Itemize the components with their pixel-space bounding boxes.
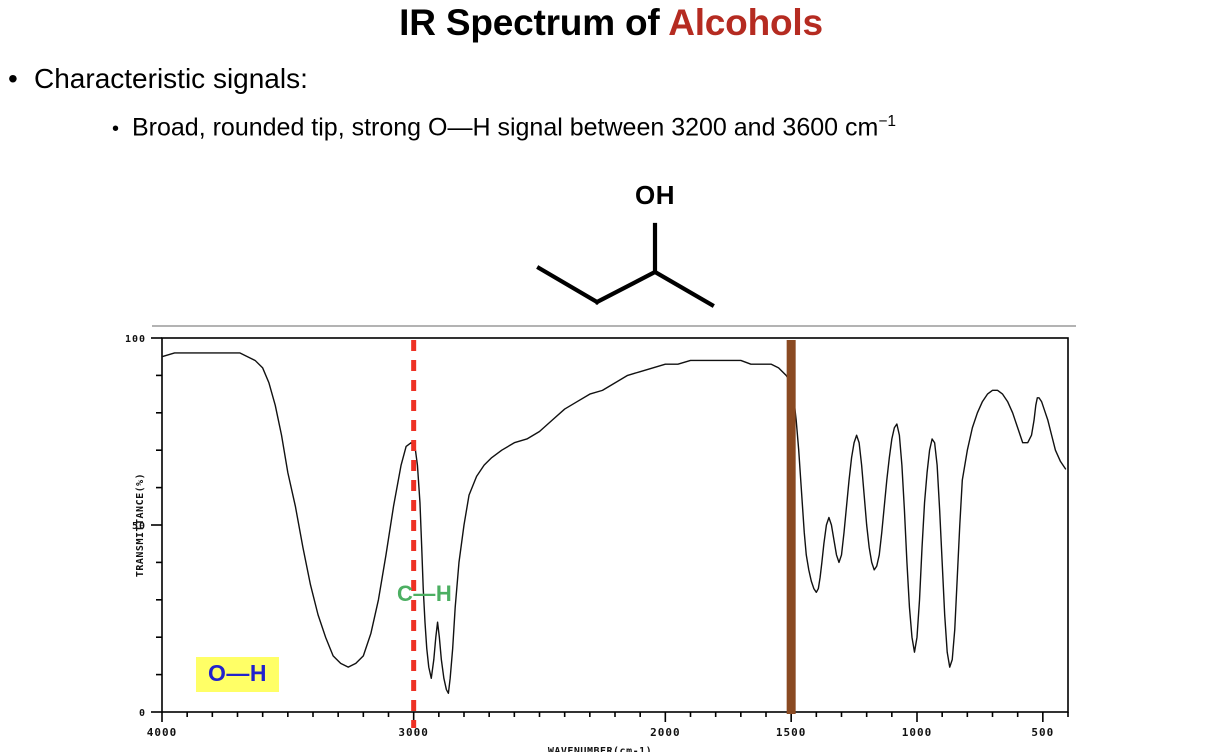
annotation-oh-band: O—H (196, 657, 279, 692)
svg-text:0: 0 (139, 708, 146, 719)
bullet-level-2-text: Broad, rounded tip, strong O—H signal be… (132, 113, 878, 141)
svg-text:1500: 1500 (776, 726, 807, 739)
page-title: IR Spectrum of Alcohols (0, 2, 1222, 44)
svg-text:TRANSMITTANCE(%): TRANSMITTANCE(%) (135, 473, 146, 577)
svg-text:500: 500 (1031, 726, 1054, 739)
spectrum-svg: 050100TRANSMITTANCE(%)400030002000150010… (0, 318, 1222, 752)
bullet-glyph: • (8, 63, 34, 95)
annotation-ch-band: C—H (397, 581, 452, 607)
svg-text:2000: 2000 (650, 726, 681, 739)
bullet-glyph: • (112, 118, 132, 141)
bullet-level-1: •Characteristic signals: (8, 63, 308, 95)
title-main: IR Spectrum of (399, 2, 668, 43)
title-accent: Alcohols (668, 2, 823, 43)
svg-text:4000: 4000 (147, 726, 178, 739)
oh-structure-label: OH (635, 180, 675, 211)
superscript-minus-one: −1 (878, 113, 896, 130)
molecule-structure-2-butanol: OH (520, 180, 780, 325)
svg-text:100: 100 (125, 334, 146, 345)
bullet-level-1-text: Characteristic signals: (34, 63, 308, 94)
svg-text:1000: 1000 (902, 726, 933, 739)
ir-spectrum-plot: 050100TRANSMITTANCE(%)400030002000150010… (0, 318, 1222, 752)
bullet-level-2: •Broad, rounded tip, strong O—H signal b… (112, 113, 896, 142)
svg-text:WAVENUMBER(cm-1): WAVENUMBER(cm-1) (548, 746, 652, 752)
